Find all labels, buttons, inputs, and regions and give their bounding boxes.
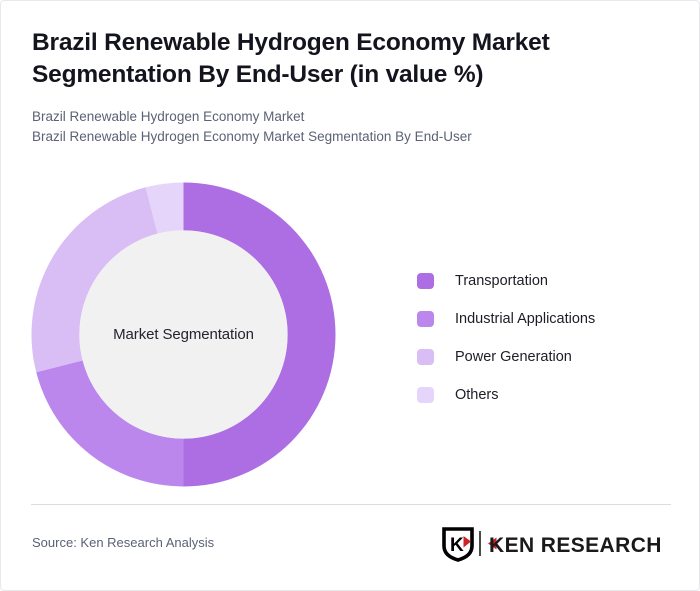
subtitle-group: Brazil Renewable Hydrogen Economy Market…: [32, 107, 652, 147]
chart-footer: Source: Ken Research Analysis K KEN RESE…: [32, 522, 671, 570]
svg-text:K: K: [450, 535, 464, 556]
legend-swatch: [417, 349, 434, 365]
chart-header: Brazil Renewable Hydrogen Economy Market…: [32, 27, 652, 147]
legend-item[interactable]: Power Generation: [417, 338, 657, 376]
footer-divider: [31, 504, 671, 505]
chart-card: Brazil Renewable Hydrogen Economy Market…: [0, 0, 700, 591]
legend-item-label: Industrial Applications: [455, 311, 595, 327]
ken-research-wordmark: KEN RESEARCH: [479, 529, 671, 559]
legend-swatch: [417, 311, 434, 327]
legend-item-label: Transportation: [455, 273, 548, 289]
donut-chart-svg: [31, 182, 336, 487]
legend-swatch: [417, 273, 434, 289]
source-text: Source: Ken Research Analysis: [32, 535, 214, 550]
donut-hole: [79, 230, 287, 438]
donut-chart: Market Segmentation: [31, 182, 336, 487]
legend-item[interactable]: Industrial Applications: [417, 300, 657, 338]
chart-legend: TransportationIndustrial ApplicationsPow…: [417, 262, 657, 414]
legend-item[interactable]: Others: [417, 376, 657, 414]
page-title: Brazil Renewable Hydrogen Economy Market…: [32, 27, 652, 91]
ken-research-logo: K KEN RESEARCH: [441, 522, 671, 566]
subtitle-line-1: Brazil Renewable Hydrogen Economy Market: [32, 107, 652, 127]
legend-item-label: Power Generation: [455, 349, 572, 365]
donut-slice-group: [31, 183, 335, 487]
legend-swatch: [417, 387, 434, 403]
chart-body: Market Segmentation TransportationIndust…: [1, 166, 700, 496]
logo-text: KEN RESEARCH: [489, 534, 662, 557]
shield-logo-icon: K: [441, 526, 475, 562]
legend-item[interactable]: Transportation: [417, 262, 657, 300]
subtitle-line-2: Brazil Renewable Hydrogen Economy Market…: [32, 127, 652, 147]
legend-item-label: Others: [455, 387, 499, 403]
